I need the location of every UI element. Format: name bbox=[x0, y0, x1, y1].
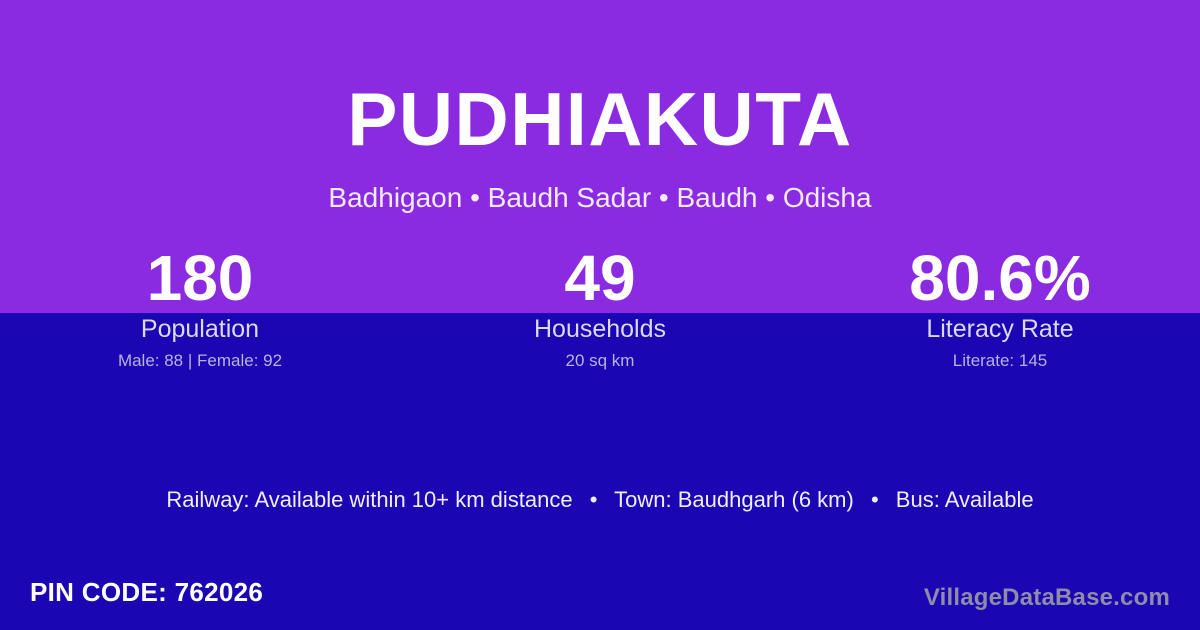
stat-population: 180 Population Male: 88 | Female: 92 bbox=[0, 243, 400, 388]
stat-subtext: Literate: 145 bbox=[953, 350, 1048, 372]
infra-town: Town: Baudhgarh (6 km) bbox=[614, 487, 854, 512]
infra-bus: Bus: Available bbox=[896, 487, 1034, 512]
location-breadcrumb: Badhigaon • Baudh Sadar • Baudh • Odisha bbox=[0, 183, 1200, 214]
site-brand: VillageDataBase.com bbox=[924, 583, 1170, 613]
stat-literacy-rate: 80.6% Literacy Rate Literate: 145 bbox=[800, 243, 1200, 388]
stat-value: 80.6% bbox=[909, 243, 1090, 313]
bullet-separator-icon: • bbox=[860, 487, 890, 512]
stat-value: 49 bbox=[564, 243, 635, 313]
stat-subtext: 20 sq km bbox=[566, 350, 635, 372]
stat-value: 180 bbox=[147, 243, 254, 313]
stats-row: 180 Population Male: 88 | Female: 92 49 … bbox=[0, 243, 1200, 388]
stat-label: Population bbox=[141, 314, 259, 344]
stat-households: 49 Households 20 sq km bbox=[400, 243, 800, 388]
stat-subtext: Male: 88 | Female: 92 bbox=[118, 350, 282, 372]
infra-railway: Railway: Available within 10+ km distanc… bbox=[166, 487, 572, 512]
village-info-card: PUDHIAKUTA Badhigaon • Baudh Sadar • Bau… bbox=[0, 0, 1200, 630]
stat-label: Literacy Rate bbox=[926, 314, 1073, 344]
infrastructure-line: Railway: Available within 10+ km distanc… bbox=[0, 486, 1200, 514]
pin-code: PIN CODE: 762026 bbox=[30, 576, 263, 608]
page-title: PUDHIAKUTA bbox=[0, 82, 1200, 157]
stat-label: Households bbox=[534, 314, 666, 344]
bullet-separator-icon: • bbox=[579, 487, 609, 512]
